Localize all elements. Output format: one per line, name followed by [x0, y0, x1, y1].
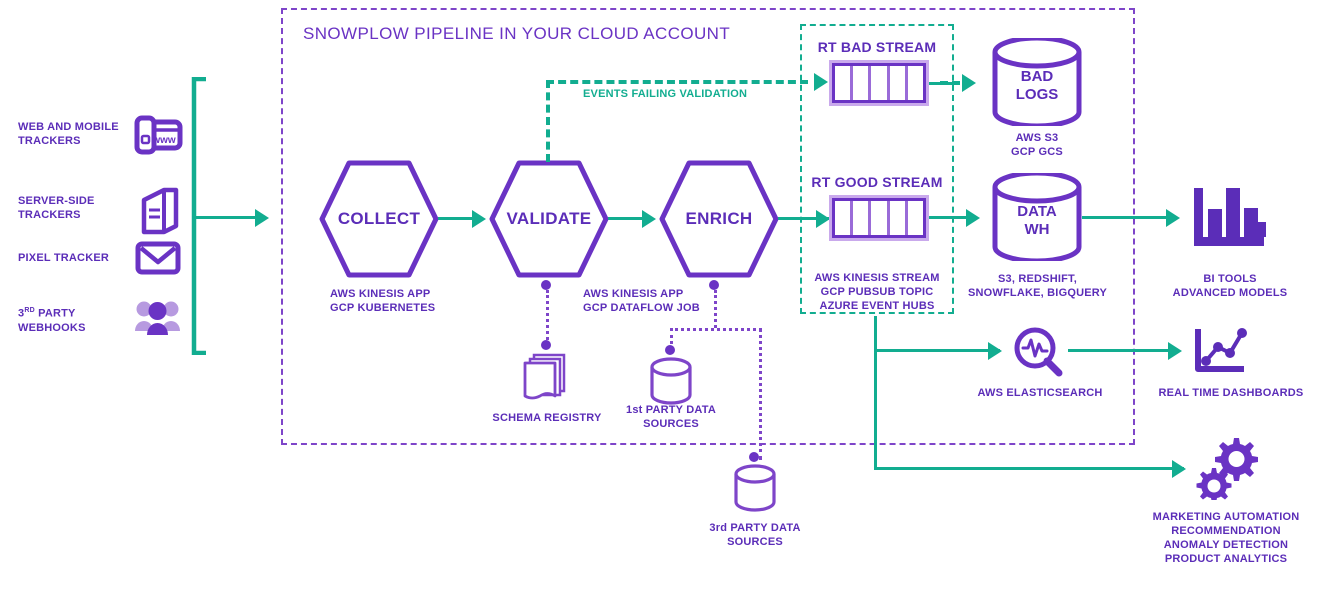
connector-enrich-horizontal [670, 328, 762, 331]
gears-icon [1190, 432, 1262, 500]
arrow-badstream-badlogs-dash [940, 81, 960, 85]
store-bad-logs[interactable]: BAD LOGS [990, 38, 1084, 126]
failing-validation-horizontal [546, 80, 808, 84]
arrow-datawh-bitools-head [1166, 209, 1180, 227]
store-bad-logs-sublabel: AWS S3 GCP GCS [972, 131, 1102, 159]
store-data-wh[interactable]: DATA WH [990, 173, 1084, 261]
arrow-branch-elasticsearch-line [874, 349, 1000, 352]
arrow-goodstream-datawh-head [966, 209, 980, 227]
stage-collect[interactable]: COLLECT [318, 159, 440, 279]
documents-stack-icon [520, 352, 572, 402]
data-source-label-first-party: 1st PARTY DATA SOURCES [611, 403, 731, 431]
output-label-realtime-dashboards: REAL TIME DASHBOARDS [1145, 386, 1317, 400]
output-label-bi-tools: BI TOOLS ADVANCED MODELS [1150, 272, 1310, 300]
stage-validate-sublabel: AWS KINESIS APP GCP DATAFLOW JOB [583, 287, 763, 315]
stream-good-box[interactable] [832, 198, 926, 238]
stage-collect-sublabel: AWS KINESIS APP GCP KUBERNETES [330, 287, 500, 315]
store-data-wh-label: DATA WH [990, 203, 1084, 239]
arrow-sources-to-collect-line [195, 216, 257, 219]
stream-bad-label: RT BAD STREAM [800, 40, 954, 54]
mobile-browser-icon: www [132, 112, 184, 164]
stage-enrich-label: ENRICH [658, 159, 780, 279]
connector-dot-schema-registry [541, 340, 551, 350]
connector-dot-third-party [749, 452, 759, 462]
failing-validation-vertical [546, 80, 550, 162]
people-group-icon [133, 296, 183, 340]
connector-enrich-vertical [714, 290, 717, 328]
arrow-branch-marketing-head [1172, 460, 1186, 478]
stage-validate-label: VALIDATE [488, 159, 610, 279]
stream-tech-label: AWS KINESIS STREAM GCP PUBSUB TOPIC AZUR… [798, 271, 956, 313]
source-label-server-side-trackers: SERVER-SIDE TRACKERS [18, 194, 128, 222]
stage-collect-label: COLLECT [318, 159, 440, 279]
data-source-label-schema-registry: SCHEMA REGISTRY [487, 411, 607, 425]
database-icon-first-party [648, 357, 694, 407]
store-data-wh-sublabel: S3, REDSHIFT, SNOWFLAKE, BIGQUERY [960, 272, 1115, 300]
arrow-branch-elasticsearch-head [988, 342, 1002, 360]
connector-dot-enrich [709, 280, 719, 290]
source-label-pixel-tracker: PIXEL TRACKER [18, 251, 133, 265]
connector-thirdparty-vertical [759, 328, 762, 460]
page-title: SNOWPLOW PIPELINE IN YOUR CLOUD ACCOUNT [303, 24, 730, 44]
stream-good-label: RT GOOD STREAM [800, 175, 954, 189]
source-label-third-party-webhooks: 3RD PARTY WEBHOOKS [18, 304, 130, 335]
connector-validate-schema-vertical [546, 290, 549, 340]
store-bad-logs-label: BAD LOGS [990, 68, 1084, 104]
arrow-branch-marketing-line [874, 467, 1184, 470]
arrow-collect-validate-line [438, 217, 474, 220]
envelope-icon [134, 238, 182, 278]
stage-enrich[interactable]: ENRICH [658, 159, 780, 279]
service-label-aws-elasticsearch: AWS ELASTICSEARCH [966, 386, 1114, 400]
line-chart-icon [1192, 325, 1254, 377]
stream-bad-box[interactable] [832, 63, 926, 103]
arrow-elasticsearch-dashboards-head [1168, 342, 1182, 360]
arrow-validate-enrich-head [642, 210, 656, 228]
output-label-marketing-automation: MARKETING AUTOMATION RECOMMENDATION ANOM… [1135, 510, 1317, 566]
source-label-web-mobile-trackers: WEB AND MOBILE TRACKERS [18, 120, 128, 148]
connector-dot-validate [541, 280, 551, 290]
search-pulse-icon [1010, 325, 1068, 379]
server-icon [136, 186, 182, 238]
branch-vertical-line [874, 316, 877, 470]
data-source-label-third-party: 3rd PARTY DATA SOURCES [695, 521, 815, 549]
arrow-elasticsearch-dashboards-line [1068, 349, 1176, 352]
stage-validate[interactable]: VALIDATE [488, 159, 610, 279]
failing-validation-label: EVENTS FAILING VALIDATION [583, 88, 747, 100]
arrow-validate-enrich-line [608, 217, 644, 220]
arrow-sources-to-collect-head [255, 209, 269, 227]
bar-chart-icon [1190, 182, 1268, 250]
arrow-collect-validate-head [472, 210, 486, 228]
arrow-datawh-bitools-line [1082, 216, 1174, 219]
arrow-badstream-badlogs-head [962, 74, 976, 92]
connector-dot-first-party [665, 345, 675, 355]
database-icon-third-party [732, 464, 778, 514]
